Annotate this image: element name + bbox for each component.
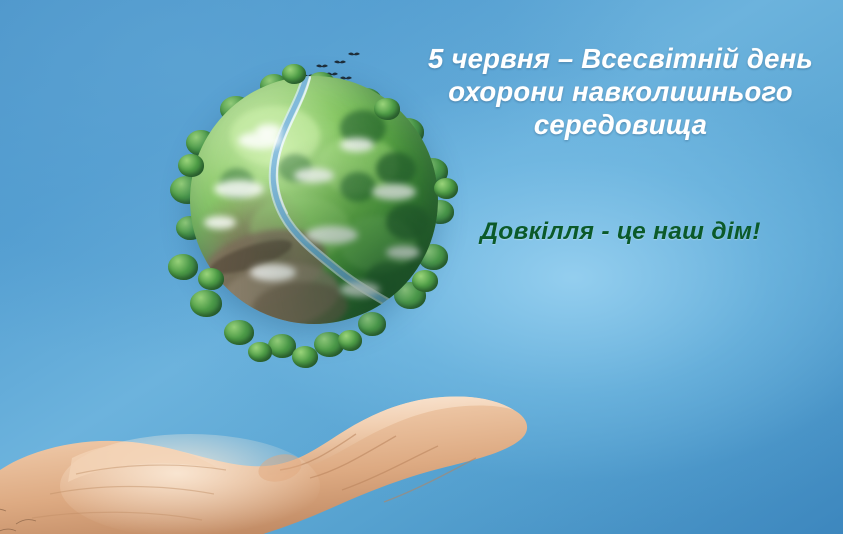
globe-terrain [190, 76, 438, 324]
globe-sphere [190, 76, 438, 324]
headline-text: 5 червня – Всесвітній день охорони навко… [408, 42, 833, 141]
rim-tree [412, 270, 438, 292]
rim-tree [178, 154, 204, 177]
rim-tree [434, 178, 458, 199]
rim-tree [282, 64, 306, 84]
tagline-text: Довкілля - це наш дім! [408, 218, 833, 246]
globe-shading [190, 76, 438, 324]
poster-canvas: 5 червня – Всесвітній день охорони навко… [0, 0, 843, 534]
open-hand [0, 318, 540, 534]
rim-tree [374, 98, 400, 120]
rim-tree [198, 268, 224, 290]
